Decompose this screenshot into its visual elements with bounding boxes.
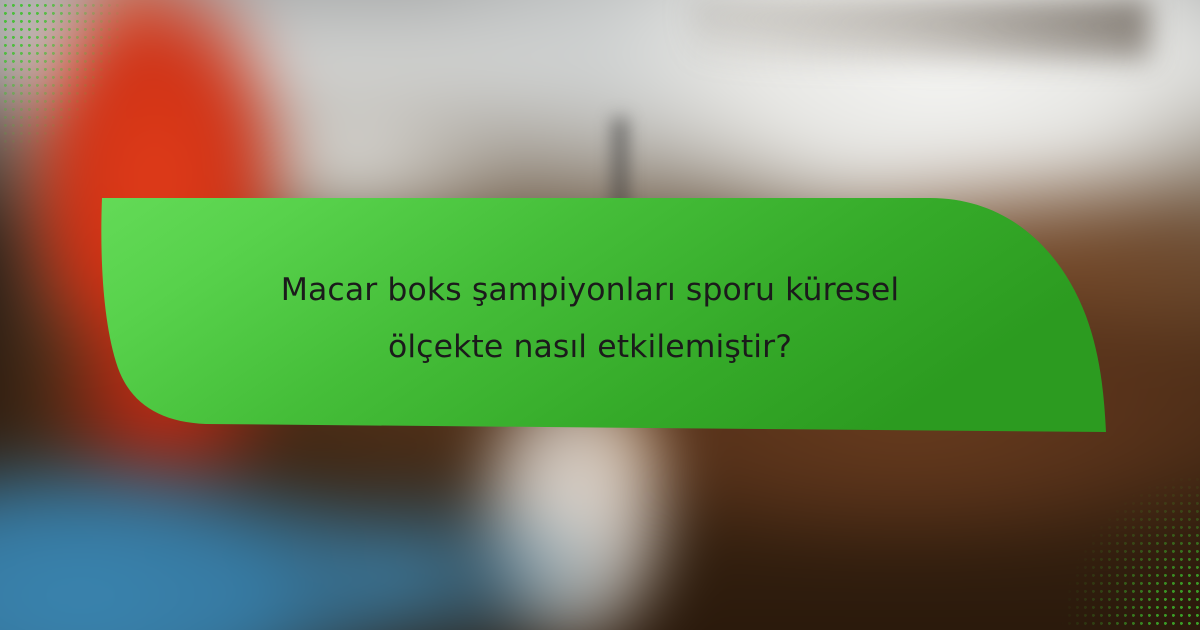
- share-card: Macar boks şampiyonları sporu küresel öl…: [0, 0, 1200, 630]
- title-banner: Macar boks şampiyonları sporu küresel öl…: [0, 0, 1200, 630]
- banner-title: Macar boks şampiyonları sporu küresel öl…: [150, 262, 1030, 376]
